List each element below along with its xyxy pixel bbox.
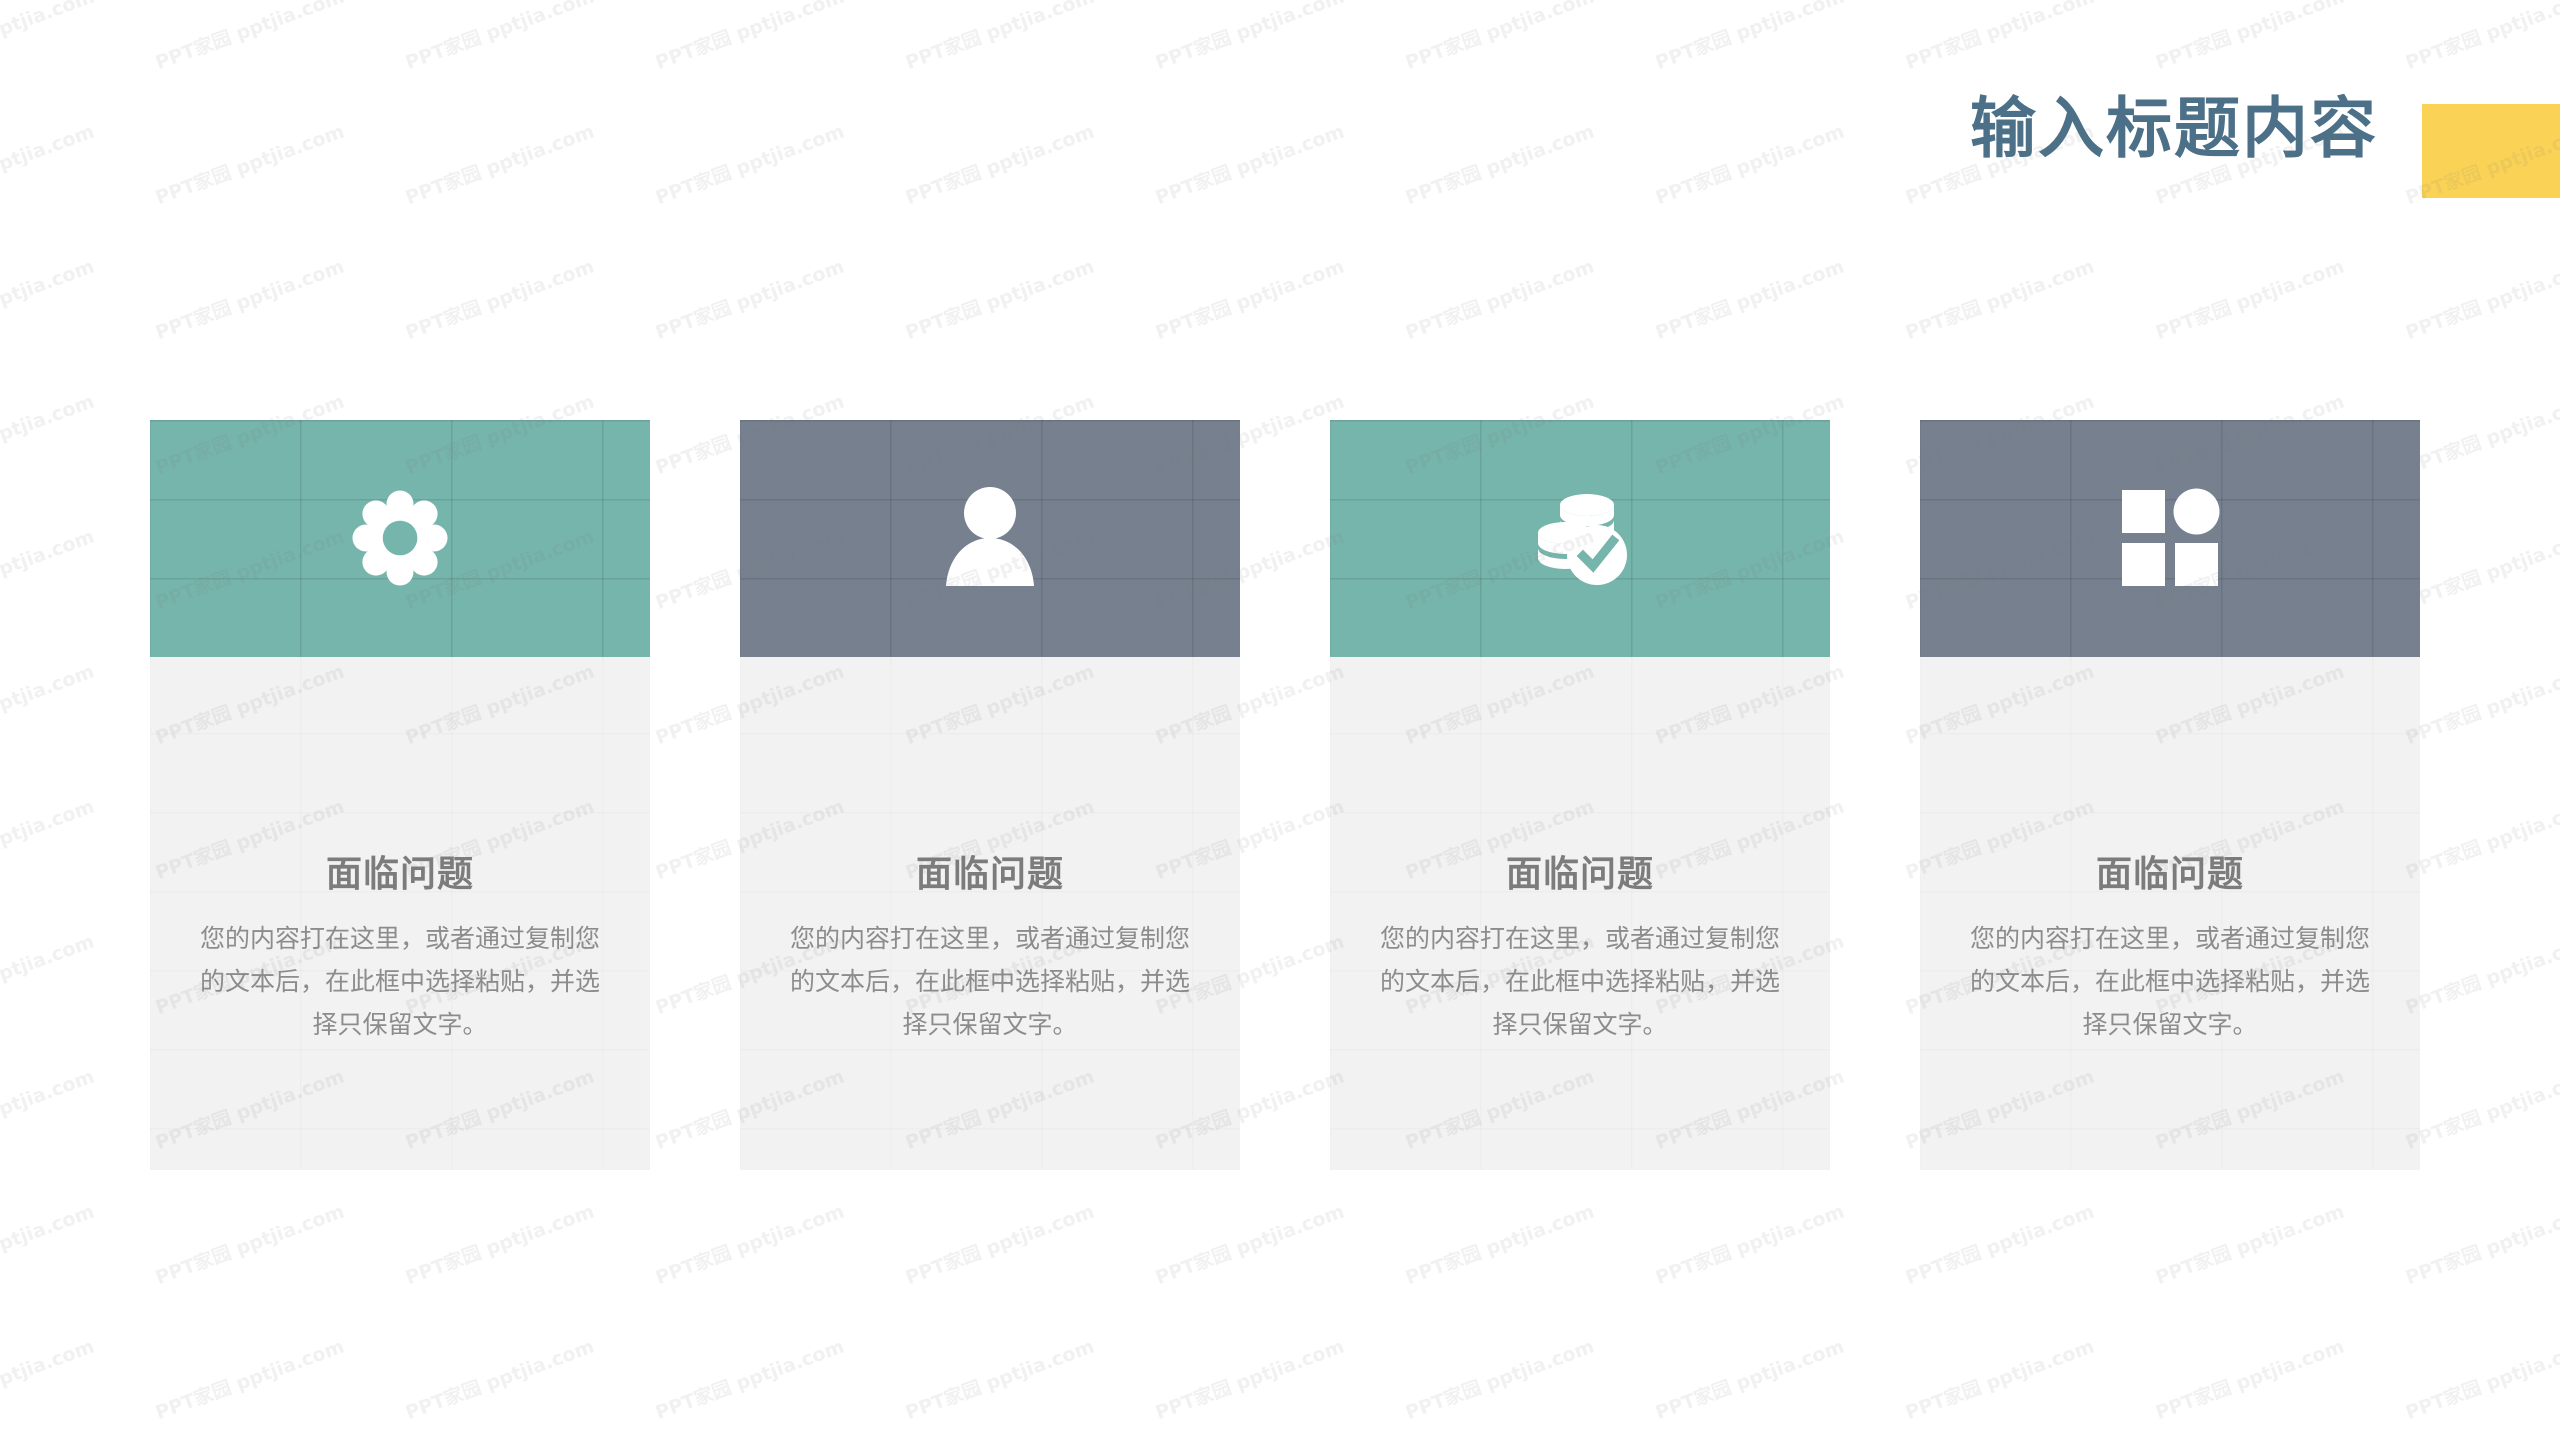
watermark-text: PPT家园 pptjia.com — [151, 252, 347, 345]
card-2[interactable]: 面临问题 您的内容打在这里，或者通过复制您的文本后，在此框中选择粘贴，并选择只保… — [740, 420, 1240, 1170]
slide-header: 输入标题内容 — [0, 0, 2560, 230]
watermark-text: PPT家园 pptjia.com — [0, 1197, 98, 1290]
card-1-body: 面临问题 您的内容打在这里，或者通过复制您的文本后，在此框中选择粘贴，并选择只保… — [150, 657, 650, 1170]
watermark-text: PPT家园 pptjia.com — [2401, 927, 2560, 1020]
yellow-accent-block — [2422, 104, 2560, 198]
watermark-text: PPT家园 pptjia.com — [401, 1197, 597, 1290]
card-4-body: 面临问题 您的内容打在这里，或者通过复制您的文本后，在此框中选择粘贴，并选择只保… — [1920, 657, 2420, 1170]
card-3-body: 面临问题 您的内容打在这里，或者通过复制您的文本后，在此框中选择粘贴，并选择只保… — [1330, 657, 1830, 1170]
card-1-header — [150, 420, 650, 657]
watermark-text: PPT家园 pptjia.com — [651, 1197, 847, 1290]
page-title: 输入标题内容 — [1970, 96, 2378, 162]
watermark-text: PPT家园 pptjia.com — [2401, 387, 2560, 480]
card-4-header — [1920, 420, 2420, 657]
watermark-text: PPT家园 pptjia.com — [0, 387, 98, 480]
card-2-title: 面临问题 — [740, 845, 1240, 897]
watermark-text: PPT家园 pptjia.com — [0, 1332, 98, 1425]
watermark-text: PPT家园 pptjia.com — [2401, 522, 2560, 615]
watermark-text: PPT家园 pptjia.com — [1901, 1332, 2097, 1425]
watermark-text: PPT家园 pptjia.com — [901, 252, 1097, 345]
watermark-text: PPT家园 pptjia.com — [1651, 1332, 1847, 1425]
watermark-text: PPT家园 pptjia.com — [1651, 252, 1847, 345]
watermark-text: PPT家园 pptjia.com — [0, 252, 98, 345]
watermark-text: PPT家园 pptjia.com — [0, 927, 98, 1020]
card-4-title: 面临问题 — [1920, 845, 2420, 897]
card-2-description: 您的内容打在这里，或者通过复制您的文本后，在此框中选择粘贴，并选择只保留文字。 — [778, 917, 1202, 1046]
card-1-title: 面临问题 — [150, 845, 650, 897]
card-3-title: 面临问题 — [1330, 845, 1830, 897]
watermark-text: PPT家园 pptjia.com — [2151, 1332, 2347, 1425]
watermark-text: PPT家园 pptjia.com — [1901, 252, 2097, 345]
watermark-text: PPT家园 pptjia.com — [401, 1332, 597, 1425]
coins-check-icon — [1520, 478, 1640, 598]
watermark-text: PPT家园 pptjia.com — [0, 522, 98, 615]
watermark-text: PPT家园 pptjia.com — [1401, 1197, 1597, 1290]
watermark-text: PPT家园 pptjia.com — [151, 1332, 347, 1425]
watermark-text: PPT家园 pptjia.com — [1401, 1332, 1597, 1425]
watermark-text: PPT家园 pptjia.com — [1151, 252, 1347, 345]
cards-row: 面临问题 您的内容打在这里，或者通过复制您的文本后，在此框中选择粘贴，并选择只保… — [150, 420, 2420, 1180]
watermark-text: PPT家园 pptjia.com — [1901, 1197, 2097, 1290]
watermark-text: PPT家园 pptjia.com — [2151, 252, 2347, 345]
watermark-text: PPT家园 pptjia.com — [2401, 1062, 2560, 1155]
watermark-text: PPT家园 pptjia.com — [0, 657, 98, 750]
watermark-text: PPT家园 pptjia.com — [1651, 1197, 1847, 1290]
card-3[interactable]: 面临问题 您的内容打在这里，或者通过复制您的文本后，在此框中选择粘贴，并选择只保… — [1330, 420, 1830, 1170]
watermark-text: PPT家园 pptjia.com — [2401, 1332, 2560, 1425]
watermark-text: PPT家园 pptjia.com — [401, 252, 597, 345]
gear-icon — [340, 478, 460, 598]
watermark-text: PPT家园 pptjia.com — [651, 252, 847, 345]
card-4-description: 您的内容打在这里，或者通过复制您的文本后，在此框中选择粘贴，并选择只保留文字。 — [1958, 917, 2382, 1046]
watermark-text: PPT家园 pptjia.com — [2401, 252, 2560, 345]
watermark-text: PPT家园 pptjia.com — [1151, 1332, 1347, 1425]
card-4[interactable]: 面临问题 您的内容打在这里，或者通过复制您的文本后，在此框中选择粘贴，并选择只保… — [1920, 420, 2420, 1170]
card-1-description: 您的内容打在这里，或者通过复制您的文本后，在此框中选择粘贴，并选择只保留文字。 — [188, 917, 612, 1046]
watermark-text: PPT家园 pptjia.com — [2401, 792, 2560, 885]
watermark-text: PPT家园 pptjia.com — [0, 792, 98, 885]
watermark-text: PPT家园 pptjia.com — [901, 1197, 1097, 1290]
watermark-text: PPT家园 pptjia.com — [0, 1062, 98, 1155]
card-2-header — [740, 420, 1240, 657]
watermark-text: PPT家园 pptjia.com — [2401, 1197, 2560, 1290]
card-3-description: 您的内容打在这里，或者通过复制您的文本后，在此框中选择粘贴，并选择只保留文字。 — [1368, 917, 1792, 1046]
card-2-body: 面临问题 您的内容打在这里，或者通过复制您的文本后，在此框中选择粘贴，并选择只保… — [740, 657, 1240, 1170]
card-1[interactable]: 面临问题 您的内容打在这里，或者通过复制您的文本后，在此框中选择粘贴，并选择只保… — [150, 420, 650, 1170]
watermark-text: PPT家园 pptjia.com — [151, 1197, 347, 1290]
watermark-text: PPT家园 pptjia.com — [2401, 657, 2560, 750]
watermark-text: PPT家园 pptjia.com — [901, 1332, 1097, 1425]
watermark-text: PPT家园 pptjia.com — [1401, 252, 1597, 345]
watermark-text: PPT家园 pptjia.com — [651, 1332, 847, 1425]
watermark-text: PPT家园 pptjia.com — [2151, 1197, 2347, 1290]
card-3-header — [1330, 420, 1830, 657]
person-icon — [930, 478, 1050, 598]
watermark-text: PPT家园 pptjia.com — [1151, 1197, 1347, 1290]
blocks-grid-icon — [2110, 478, 2230, 598]
